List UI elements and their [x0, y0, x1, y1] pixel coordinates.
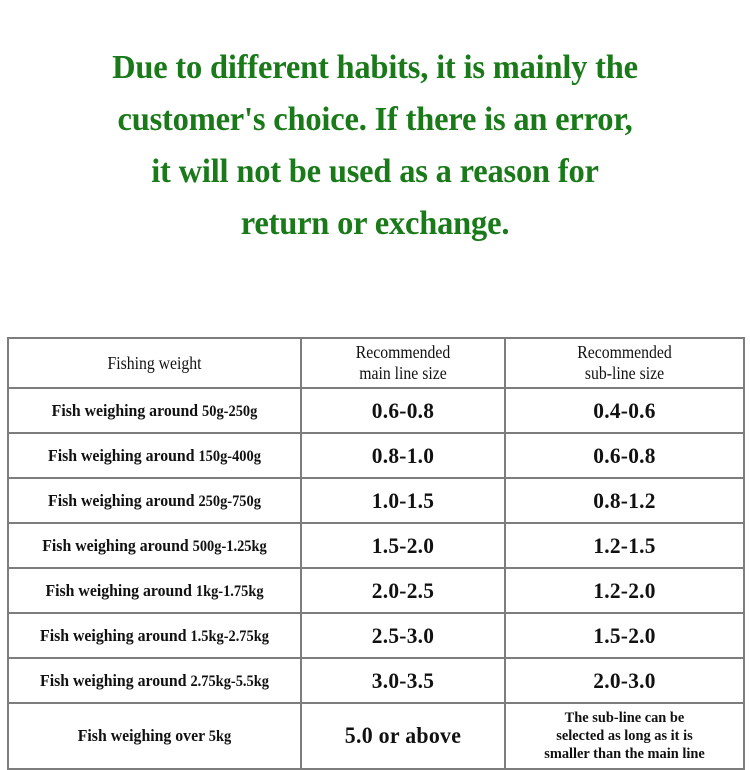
cell-fishing-weight: Fish weighing around 250g-750g — [8, 478, 301, 523]
cell-sub-line-size: 1.2-1.5 — [505, 523, 744, 568]
table-row: Fish weighing around 1.5kg-2.75kg 2.5-3.… — [8, 613, 744, 658]
notice-line-1: Due to different habits, it is mainly th… — [11, 42, 739, 94]
column-header-main-line-size-line-1: Recommended — [312, 342, 494, 363]
cell-sub-line-size: 2.0-3.0 — [505, 658, 744, 703]
cell-main-line-size: 3.0-3.5 — [301, 658, 505, 703]
notice-line-2: customer's choice. If there is an error, — [11, 94, 739, 146]
table-row: Fish weighing around 2.75kg-5.5kg 3.0-3.… — [8, 658, 744, 703]
cell-main-line-size: 0.8-1.0 — [301, 433, 505, 478]
table-row: Fish weighing around 150g-400g 0.8-1.0 0… — [8, 433, 744, 478]
cell-fishing-weight: Fish weighing around 50g-250g — [8, 388, 301, 433]
column-header-main-line-size: Recommended main line size — [301, 338, 505, 388]
cell-sub-line-size: 1.2-2.0 — [505, 568, 744, 613]
cell-main-line-size: 2.0-2.5 — [301, 568, 505, 613]
page-root: Due to different habits, it is mainly th… — [0, 0, 750, 750]
column-header-sub-line-size: Recommended sub-line size — [505, 338, 744, 388]
cell-main-line-size: 1.5-2.0 — [301, 523, 505, 568]
cell-fishing-weight: Fish weighing around 1.5kg-2.75kg — [8, 613, 301, 658]
line-size-table: Fishing weight Recommended main line siz… — [7, 337, 745, 770]
column-header-fishing-weight: Fishing weight — [8, 338, 301, 388]
cell-sub-line-size: 0.8-1.2 — [505, 478, 744, 523]
table-row: Fish weighing around 50g-250g 0.6-0.8 0.… — [8, 388, 744, 433]
cell-sub-line-note: The sub-line can be selected as long as … — [505, 703, 744, 769]
notice-text: Due to different habits, it is mainly th… — [11, 42, 739, 250]
table-row: Fish weighing around 250g-750g 1.0-1.5 0… — [8, 478, 744, 523]
notice-line-4: return or exchange. — [11, 198, 739, 250]
cell-sub-line-size: 1.5-2.0 — [505, 613, 744, 658]
table-row: Fish weighing around 1kg-1.75kg 2.0-2.5 … — [8, 568, 744, 613]
cell-fishing-weight: Fish weighing around 150g-400g — [8, 433, 301, 478]
cell-fishing-weight: Fish weighing around 1kg-1.75kg — [8, 568, 301, 613]
cell-fishing-weight: Fish weighing around 500g-1.25kg — [8, 523, 301, 568]
column-header-sub-line-size-line-1: Recommended — [518, 342, 731, 363]
column-header-sub-line-size-line-2: sub-line size — [518, 363, 731, 384]
cell-sub-line-note-line-1: The sub-line can be — [511, 709, 739, 727]
cell-sub-line-note-line-2: selected as long as it is — [511, 727, 739, 745]
cell-fishing-weight: Fish weighing around 2.75kg-5.5kg — [8, 658, 301, 703]
cell-main-line-size: 1.0-1.5 — [301, 478, 505, 523]
table-row: Fish weighing over 5kg 5.0 or above The … — [8, 703, 744, 769]
table-row: Fish weighing around 500g-1.25kg 1.5-2.0… — [8, 523, 744, 568]
table-header-row: Fishing weight Recommended main line siz… — [8, 338, 744, 388]
column-header-main-line-size-line-2: main line size — [312, 363, 494, 384]
notice-line-3: it will not be used as a reason for — [11, 146, 739, 198]
cell-main-line-size: 5.0 or above — [301, 703, 505, 769]
cell-fishing-weight: Fish weighing over 5kg — [8, 703, 301, 769]
cell-sub-line-note-line-3: smaller than the main line — [511, 745, 739, 763]
cell-main-line-size: 0.6-0.8 — [301, 388, 505, 433]
column-header-fishing-weight-line-1: Fishing weight — [24, 353, 286, 374]
cell-sub-line-size: 0.6-0.8 — [505, 433, 744, 478]
cell-main-line-size: 2.5-3.0 — [301, 613, 505, 658]
cell-sub-line-size: 0.4-0.6 — [505, 388, 744, 433]
